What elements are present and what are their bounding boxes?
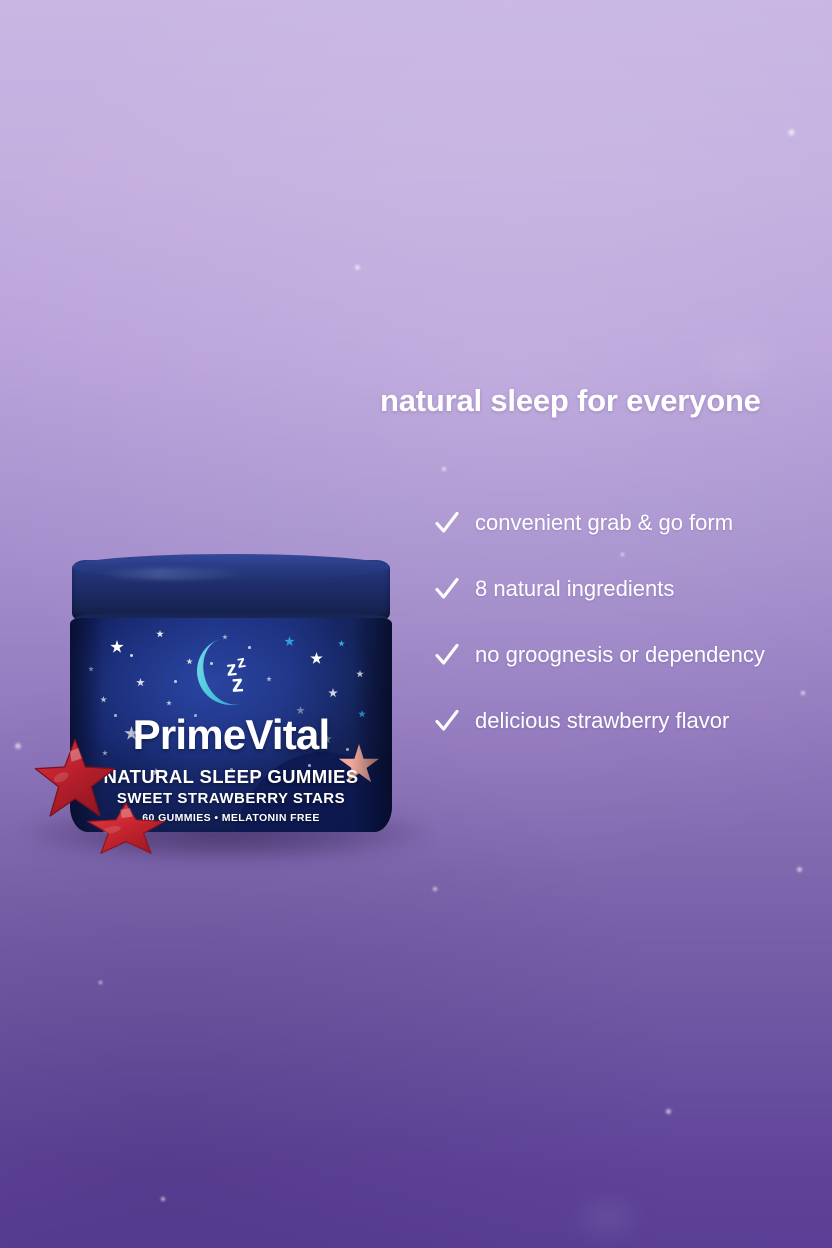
svg-text:z: z [231, 670, 245, 698]
label-dot [130, 654, 133, 657]
product-type-label: NATURAL SLEEP GUMMIES [70, 766, 392, 788]
sparkle-particle [665, 1108, 672, 1115]
list-item: 8 natural ingredients [435, 556, 832, 622]
background-glow [572, 1196, 642, 1240]
sparkle-particle [787, 128, 796, 137]
brand-name: PrimeVital [70, 714, 392, 756]
sparkle-particle [98, 980, 103, 985]
benefit-label: 8 natural ingredients [475, 578, 674, 600]
label-right-shading [352, 618, 392, 832]
list-item: delicious strawberry flavor [435, 688, 832, 754]
sparkle-particle [441, 466, 447, 472]
benefit-label: no groognesis or dependency [475, 644, 765, 666]
checkmark-icon [435, 510, 459, 536]
svg-text:z: z [235, 652, 247, 672]
page-title: natural sleep for everyone [380, 384, 810, 418]
benefit-label: delicious strawberry flavor [475, 710, 729, 732]
list-item: no groognesis or dependency [435, 622, 832, 688]
label-dot [174, 680, 177, 683]
marketing-copy: natural sleep for everyone convenient gr… [380, 384, 810, 418]
product-image: z z z PrimeVital NATURAL SLEEP GUMMIES S… [18, 548, 418, 878]
gummy-star-flat [80, 798, 172, 860]
sparkle-particle [160, 1196, 166, 1202]
checkmark-icon [435, 642, 459, 668]
checkmark-icon [435, 708, 459, 734]
list-item: convenient grab & go form [435, 490, 832, 556]
sparkle-particle [796, 866, 803, 873]
background-glow [700, 336, 780, 388]
jar-lid-highlight [98, 568, 248, 580]
sparkle-particle [354, 264, 361, 271]
crescent-moon-zzz-icon: z z z [194, 634, 268, 708]
gummy-jar: z z z PrimeVital NATURAL SLEEP GUMMIES S… [70, 560, 392, 832]
sparkle-particle [432, 886, 438, 892]
benefit-label: convenient grab & go form [475, 512, 733, 534]
advertisement-canvas: natural sleep for everyone convenient gr… [0, 0, 832, 1248]
benefits-list: convenient grab & go form 8 natural ingr… [435, 490, 832, 754]
checkmark-icon [435, 576, 459, 602]
